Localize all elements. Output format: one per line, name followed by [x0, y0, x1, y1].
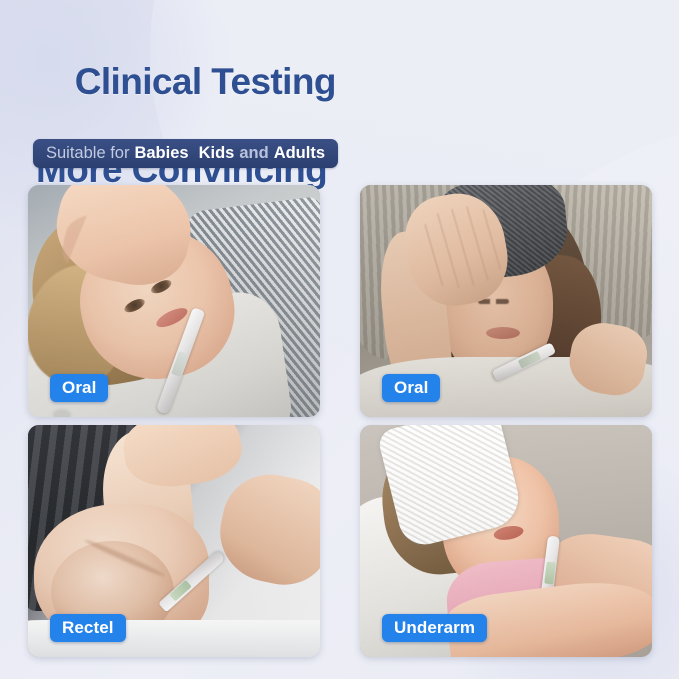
- woman-eyes-closed: [478, 299, 509, 304]
- product-feature-poster: Clinical Testing More Convincing Suitabl…: [0, 0, 679, 679]
- usage-photo-grid: Oral: [28, 185, 652, 655]
- subtitle-audience-kids: Kids: [199, 145, 235, 162]
- panel-rectal-baby: Rectel: [28, 425, 320, 657]
- subtitle-conjunction: and: [239, 145, 268, 162]
- woman-mouth: [486, 327, 520, 339]
- panel-label-badge: Oral: [382, 374, 440, 402]
- headline-line-1: Clinical Testing: [75, 61, 336, 102]
- subtitle-audience-adults: Adults: [274, 145, 325, 162]
- panel-oral-adult: Oral: [360, 185, 652, 417]
- panel-label-badge: Underarm: [382, 614, 487, 642]
- panel-oral-child: Oral: [28, 185, 320, 417]
- child-eye-left: [122, 297, 146, 316]
- panel-label-badge: Oral: [50, 374, 108, 402]
- panel-label-badge: Rectel: [50, 614, 126, 642]
- thermometer-display: [544, 562, 556, 585]
- child-mouth: [493, 524, 525, 542]
- subtitle-banner: Suitable for Babies Kids and Adults: [33, 139, 338, 168]
- subtitle-audience-babies: Babies: [134, 145, 188, 162]
- caregiver-hand-holding-thermometer: [211, 466, 320, 593]
- panel-underarm-child: Underarm: [360, 425, 652, 657]
- subtitle-prefix: Suitable for: [46, 145, 129, 162]
